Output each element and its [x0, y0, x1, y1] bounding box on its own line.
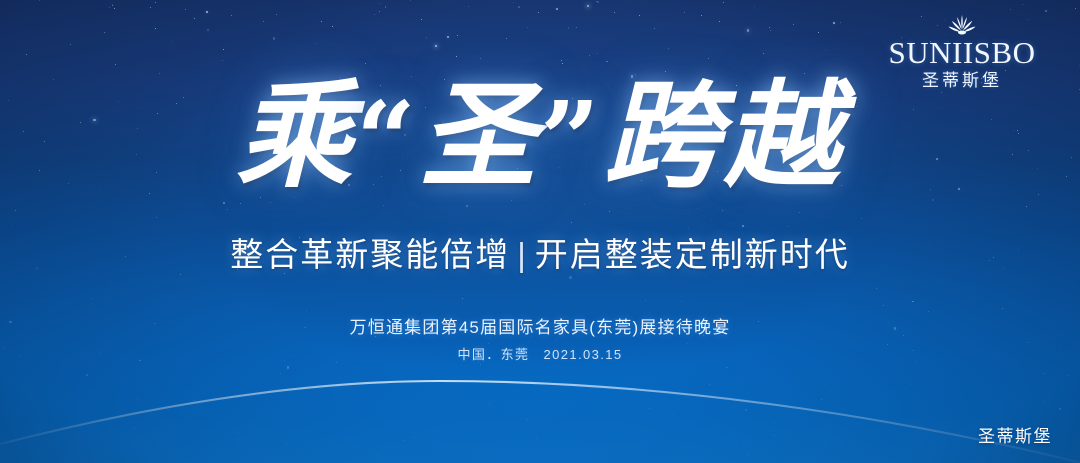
lotus-flower-icon: [947, 14, 977, 36]
title-part-1: 乘: [236, 68, 356, 204]
title-highlight: 圣: [420, 68, 540, 204]
title-quote-open: “: [356, 78, 420, 201]
event-location: 中国．东莞: [457, 347, 529, 362]
subtitle: 整合革新聚能倍增|开启整装定制新时代: [0, 228, 1080, 276]
subtitle-divider: |: [517, 236, 528, 274]
title-part-2: 跨越: [604, 68, 844, 204]
subtitle-left: 整合革新聚能倍增: [230, 236, 510, 273]
main-title: 乘“圣”跨越: [0, 72, 1080, 202]
subtitle-right: 开启整装定制新时代: [535, 236, 850, 273]
event-date: 2021.03.15: [543, 347, 622, 362]
event-meta: 中国．东莞2021.03.15: [0, 344, 1080, 363]
poster-banner: SUNIISBO 圣蒂斯堡 乘“圣”跨越 整合革新聚能倍增|开启整装定制新时代 …: [0, 0, 1080, 463]
event-title: 万恒通集团第45届国际名家具(东莞)展接待晚宴: [0, 313, 1080, 338]
watermark: 圣蒂斯堡: [978, 422, 1052, 447]
title-quote-close: ”: [540, 78, 604, 201]
brand-wordmark: SUNIISBO: [878, 37, 1046, 69]
